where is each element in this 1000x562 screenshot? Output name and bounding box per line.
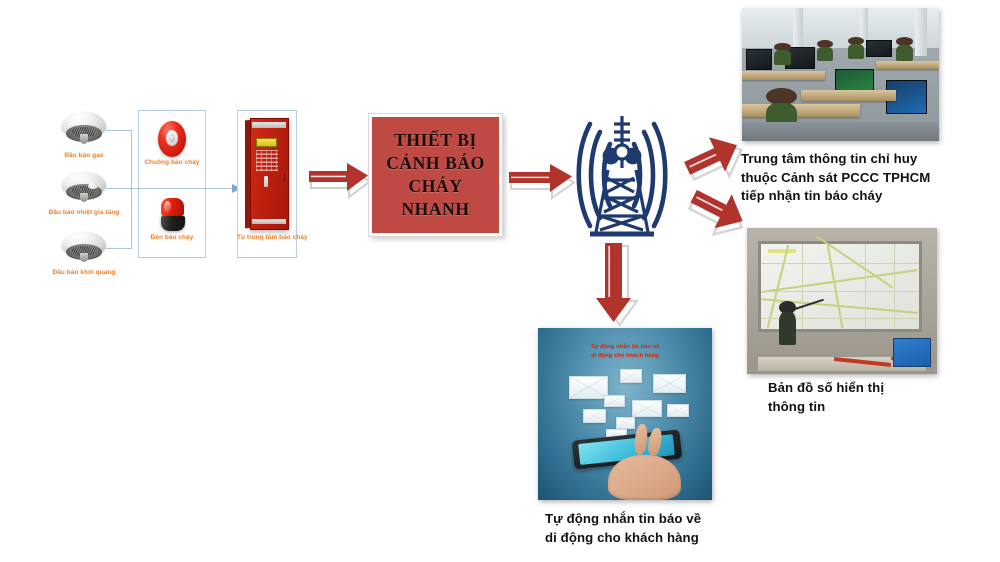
envelope-icon [653,374,686,393]
envelope-icon [620,369,643,383]
arrow-tower-to-sms [596,240,638,328]
envelope-icon [569,376,607,398]
connector-vertical-bus [131,130,132,249]
caption-line-2: di động cho khách hàng [545,529,755,548]
caption-line-2: thông tin [768,398,938,417]
sms-to-mobile-caption: Tự động nhắn tin báo về di động cho khác… [545,510,755,547]
command-information-center-caption: Trung tâm thông tin chỉ huy thuộc Cảnh s… [741,150,957,206]
sms-overlay-line-1: Tự động nhắn tin báo về [548,343,701,351]
envelope-icon [632,400,662,417]
caption-line-3: tiếp nhận tin báo cháy [741,187,957,206]
gas-detector-label: Đầu báo gas [52,152,116,159]
alert-device-line-3: CHÁY [386,175,485,198]
heat-rate-detector-icon [62,172,106,208]
fire-alarm-control-cabinet-icon [245,118,289,230]
caption-line-1: Trung tâm thông tin chỉ huy [741,150,957,169]
control-panel-label: Tủ trung tâm báo cháy [237,234,297,241]
envelope-icon [667,404,690,418]
radio-antenna-tower-icon [566,110,678,240]
connector-gas [106,130,132,131]
caption-line-1: Bản đồ số hiển thị [768,379,938,398]
digital-map-display-photo [747,228,937,374]
diagram-canvas: Đầu báo gas Đầu báo nhiệt gia tăng Đầu b… [0,0,1000,562]
digital-map-display-caption: Bản đồ số hiển thị thông tin [768,379,938,416]
arrow-tower-to-command-center [684,138,746,186]
alert-device-box: THIẾT BỊ CẢNH BÁO CHÁY NHANH [369,114,502,236]
connector-smoke [106,248,132,249]
envelope-icon [616,417,635,429]
strobe-light-label: Đèn báo cháy [144,234,200,241]
strobe-light-icon [160,198,185,231]
alert-device-text: THIẾT BỊ CẢNH BÁO CHÁY NHANH [386,129,485,221]
optical-smoke-detector-label: Đầu báo khói quang [42,269,126,276]
alert-device-line-4: NHANH [386,198,485,221]
caption-line-2: thuộc Cảnh sát PCCC TPHCM [741,169,957,188]
annunciator-group-divider [138,188,206,189]
sms-overlay-text: Tự động nhắn tin báo về di động cho khác… [548,343,701,359]
envelope-icon [583,409,606,423]
heat-rate-detector-label: Đầu báo nhiệt gia tăng [38,209,130,216]
fire-bell-icon [158,121,186,157]
fire-bell-label: Chuông báo cháy [142,159,202,166]
command-information-center-photo [742,8,939,141]
hand-icon [608,455,681,500]
envelope-icon [604,395,625,407]
alert-device-line-1: THIẾT BỊ [386,129,485,152]
optical-smoke-detector-icon [62,232,106,268]
sms-overlay-line-2: di động cho khách hàng [548,352,701,360]
caption-line-1: Tự động nhắn tin báo về [545,510,755,529]
gas-detector-icon [62,112,106,150]
sms-to-mobile-photo: Tự động nhắn tin báo về di động cho khác… [538,328,712,500]
connector-heat [106,188,132,189]
arrow-tower-to-digital-map [684,188,746,244]
alert-device-line-2: CẢNH BÁO [386,152,485,175]
arrow-panel-to-device [306,163,372,197]
